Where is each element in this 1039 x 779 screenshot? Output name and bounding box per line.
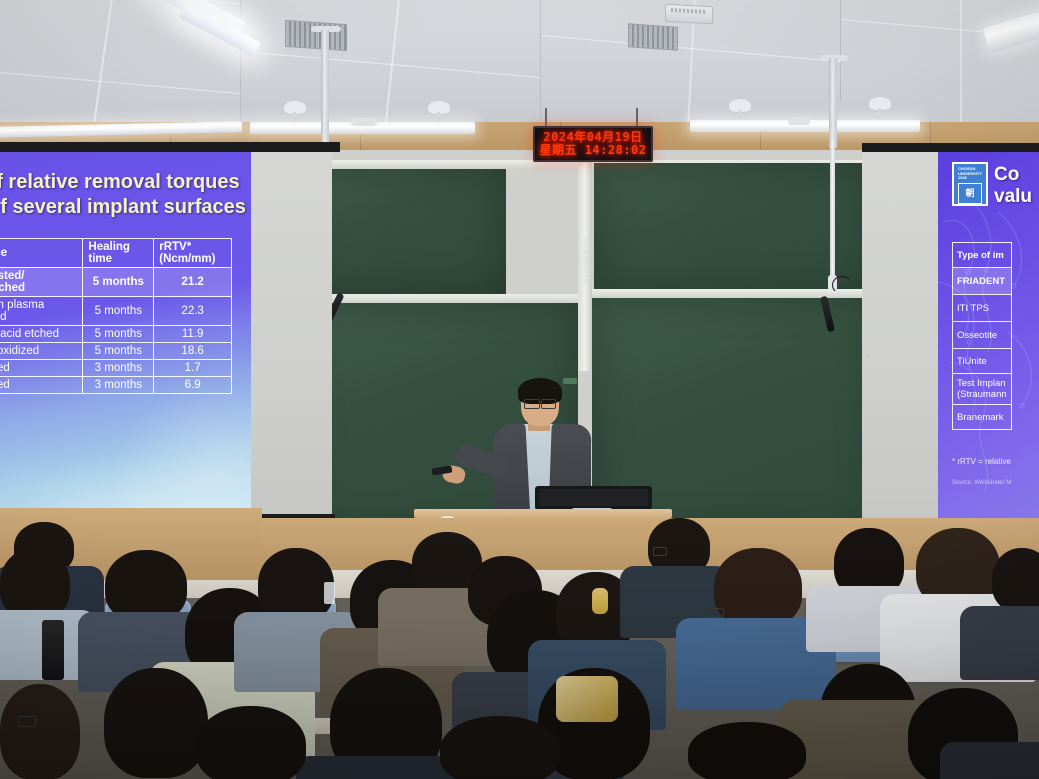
audience-glasses: [18, 716, 36, 727]
cell-implant-name: FRIADENT: [953, 268, 1012, 295]
water-bottle-clear: [324, 582, 335, 604]
cell-implant-name: Osseotite: [953, 322, 1012, 349]
audience-head: [104, 668, 208, 778]
logo-emblem: 朝: [958, 183, 982, 205]
audience-head: [258, 548, 334, 622]
slide-left-title-line2: of several implant surfaces: [0, 196, 251, 219]
cell-implant-name: ITI TPS: [953, 295, 1012, 322]
hair-clip-large: [556, 676, 618, 722]
table-row: ined 3 months 1.7: [0, 360, 232, 377]
chalk-tray-marker: [563, 378, 577, 384]
cell-surface: lasted/ etched: [0, 268, 83, 297]
projector-mount-pole-right: [829, 58, 837, 148]
ceiling-speaker-4: [868, 96, 892, 111]
audience-body: [940, 742, 1039, 779]
slide-right-table: Type of im FRIADENT ITI TPS Osseotite Ti…: [952, 242, 1012, 430]
table-row: ITI TPS: [953, 295, 1012, 322]
projection-screen-case-left: [0, 142, 340, 152]
table-row: c oxidized 5 months 18.6: [0, 343, 232, 360]
table-row: um plasma yed 5 months 22.3: [0, 297, 232, 326]
slide-right: CHOSUN UNIVERSITY 1946 朝 Co valu Type of…: [938, 152, 1039, 518]
audience-head: [992, 548, 1039, 612]
cell-healing: 5 months: [83, 268, 154, 297]
ceiling-speaker-1: [283, 100, 307, 115]
blackboard-panel-upper-left: [304, 169, 506, 294]
water-bottle-dark: [42, 620, 64, 680]
cell-surface: ined: [0, 360, 83, 377]
col-header-healing: Healing time: [83, 239, 154, 268]
table-row: Osseotite: [953, 322, 1012, 349]
air-vent-left: [285, 20, 347, 51]
presenter-glasses: [524, 399, 540, 409]
cable-junction-box-2: [788, 117, 810, 125]
slide-right-source: Source: Weinländer M: [952, 480, 1011, 486]
cell-implant-name: TiUnite: [953, 349, 1012, 374]
col-header-rrtv: rRTV* (Ncm/mm): [154, 239, 232, 268]
cell-healing: 3 months: [83, 377, 154, 394]
projection-screen-left: of relative removal torques of several i…: [0, 152, 332, 520]
cell-surface-l2: etched: [0, 282, 25, 294]
mic-boom-rod-right: [830, 140, 835, 280]
table-header-row: ace Healing time rRTV* (Ncm/mm): [0, 239, 232, 268]
audience-glasses: [653, 547, 667, 556]
logo-line-3: 1946: [958, 176, 967, 181]
cell-implant-name: Test Implan (Straumann: [953, 374, 1012, 405]
cell-surface-l2: yed: [0, 311, 7, 323]
slide-left: of relative removal torques of several i…: [0, 152, 251, 514]
blackboard-vertical-text: 书写板面请勿涂写: [581, 238, 590, 286]
mic-cable-right: [832, 276, 852, 294]
cell-surface-l1: lasted/: [0, 270, 24, 282]
audience-body: [960, 606, 1039, 680]
cell-healing: 5 months: [83, 343, 154, 360]
led-wall-clock: 2024年04月19日 星期五 14:28:02: [533, 126, 653, 162]
cell-healing: 5 months: [83, 297, 154, 326]
slide-left-table: ace Healing time rRTV* (Ncm/mm): [0, 238, 232, 394]
cable-junction-box: [351, 118, 377, 126]
audience-head: [196, 706, 306, 779]
col-header-rrtv-l2: (Ncm/mm): [159, 253, 215, 265]
cell-surface: um plasma yed: [0, 297, 83, 326]
ceiling-speaker-2: [427, 100, 451, 115]
lecture-hall-photo: 书写板面请勿涂写 2024年04月19日 星期五 14:28:02 of rel…: [0, 0, 1039, 779]
col-header-healing-l2: time: [88, 253, 112, 265]
screen-left-chevron-icon: ‹: [255, 365, 259, 377]
cell-rrtv: 6.9: [154, 377, 232, 394]
clock-time: 星期五 14:28:02: [539, 144, 646, 157]
table-row: FRIADENT: [953, 268, 1012, 295]
col-header-surface: ace: [0, 239, 83, 268]
cell-rrtv: 21.2: [154, 268, 232, 297]
cell-healing: 3 months: [83, 360, 154, 377]
chosun-university-logo: CHOSUN UNIVERSITY 1946 朝: [952, 162, 988, 206]
cell-surface-l1: um plasma: [0, 299, 44, 311]
cell-rrtv: 18.6: [154, 343, 232, 360]
col-header-rrtv-l1: rRTV*: [159, 241, 191, 253]
cell-rrtv: 1.7: [154, 360, 232, 377]
col-header-healing-l1: Healing: [88, 241, 130, 253]
projector-mount-pole-left: [321, 30, 329, 145]
cell-surface: le acid etched: [0, 326, 83, 343]
cell-healing: 5 months: [83, 326, 154, 343]
table-row: Test Implan (Straumann: [953, 374, 1012, 405]
audience-head: [0, 684, 80, 779]
cell-surface: ined: [0, 377, 83, 394]
air-vent-right: [628, 23, 678, 50]
presenter-glasses-right: [541, 399, 556, 409]
slide-right-footnote: * rRTV = relative: [952, 457, 1011, 466]
slide-left-title-line1: of relative removal torques: [0, 171, 251, 194]
table-row: le acid etched 5 months 11.9: [0, 326, 232, 343]
col-header-implant-type: Type of im: [953, 243, 1012, 268]
table-row: ined 3 months 6.9: [0, 377, 232, 394]
slide-right-title-line2: valu: [994, 186, 1032, 207]
ceiling-speaker-3: [728, 98, 752, 113]
table-row: lasted/ etched 5 months 21.2: [0, 268, 232, 297]
table-header-row: Type of im: [953, 243, 1012, 268]
audience-head: [688, 722, 806, 779]
slide-right-title-line1: Co: [994, 164, 1019, 185]
projection-screen-case-right: [862, 143, 1039, 152]
hair-clip: [592, 588, 608, 614]
table-row: TiUnite: [953, 349, 1012, 374]
cell-rrtv: 11.9: [154, 326, 232, 343]
cell-rrtv: 22.3: [154, 297, 232, 326]
cell-implant-name: Branemark: [953, 405, 1012, 430]
podium-monitor-screen: [539, 489, 648, 506]
cell-implant-name-l2: (Straumann: [957, 389, 1007, 400]
projection-screen-right: CHOSUN UNIVERSITY 1946 朝 Co valu Type of…: [862, 152, 1039, 522]
audience-glasses: [708, 608, 724, 618]
ceiling-ac-unit: [665, 4, 713, 25]
cell-surface: c oxidized: [0, 343, 83, 360]
audience-head: [440, 716, 560, 779]
screen-right-chevron-icon: ›: [866, 350, 869, 361]
audience-head: [714, 548, 802, 628]
table-row: Branemark: [953, 405, 1012, 430]
cell-implant-name-l1: Test Implan: [957, 378, 1006, 389]
